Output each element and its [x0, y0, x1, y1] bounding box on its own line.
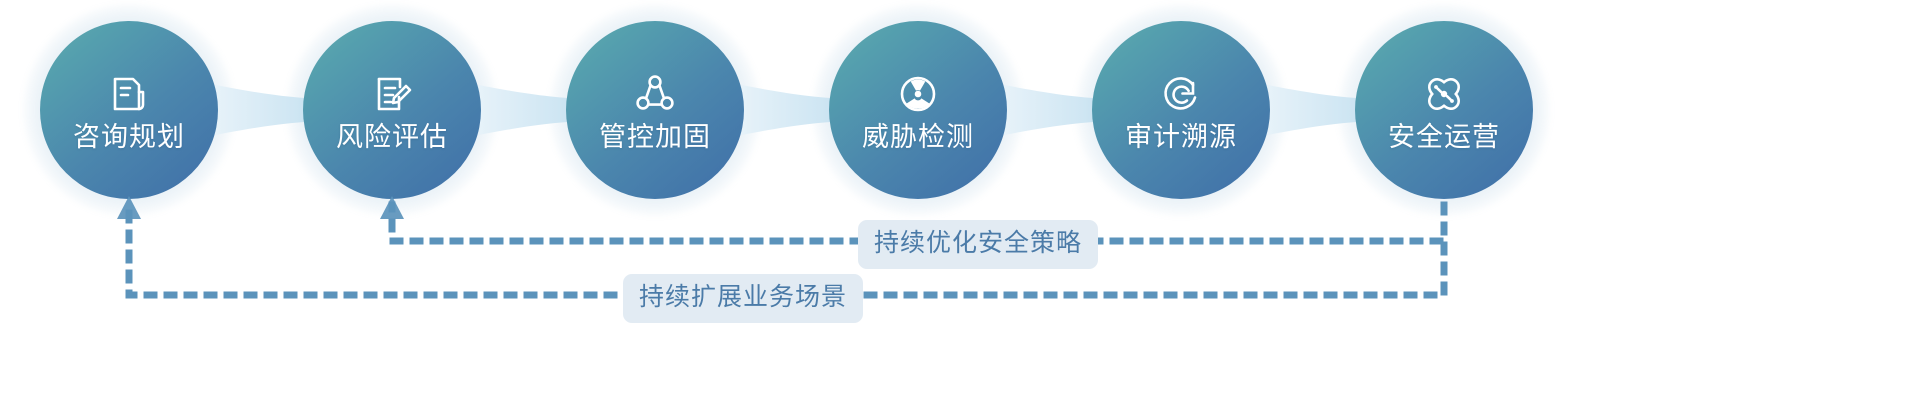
feedback-label-optimize: 持续优化安全策略: [858, 220, 1098, 269]
feedback-label-expand: 持续扩展业务场景: [623, 274, 863, 323]
feedback-arrowhead-optimize: [380, 196, 404, 219]
feedback-lines: [0, 0, 1920, 416]
diagram-canvas: 咨询规划 风险评估 管控加固: [0, 0, 1920, 416]
feedback-arrowhead-expand: [117, 196, 141, 219]
